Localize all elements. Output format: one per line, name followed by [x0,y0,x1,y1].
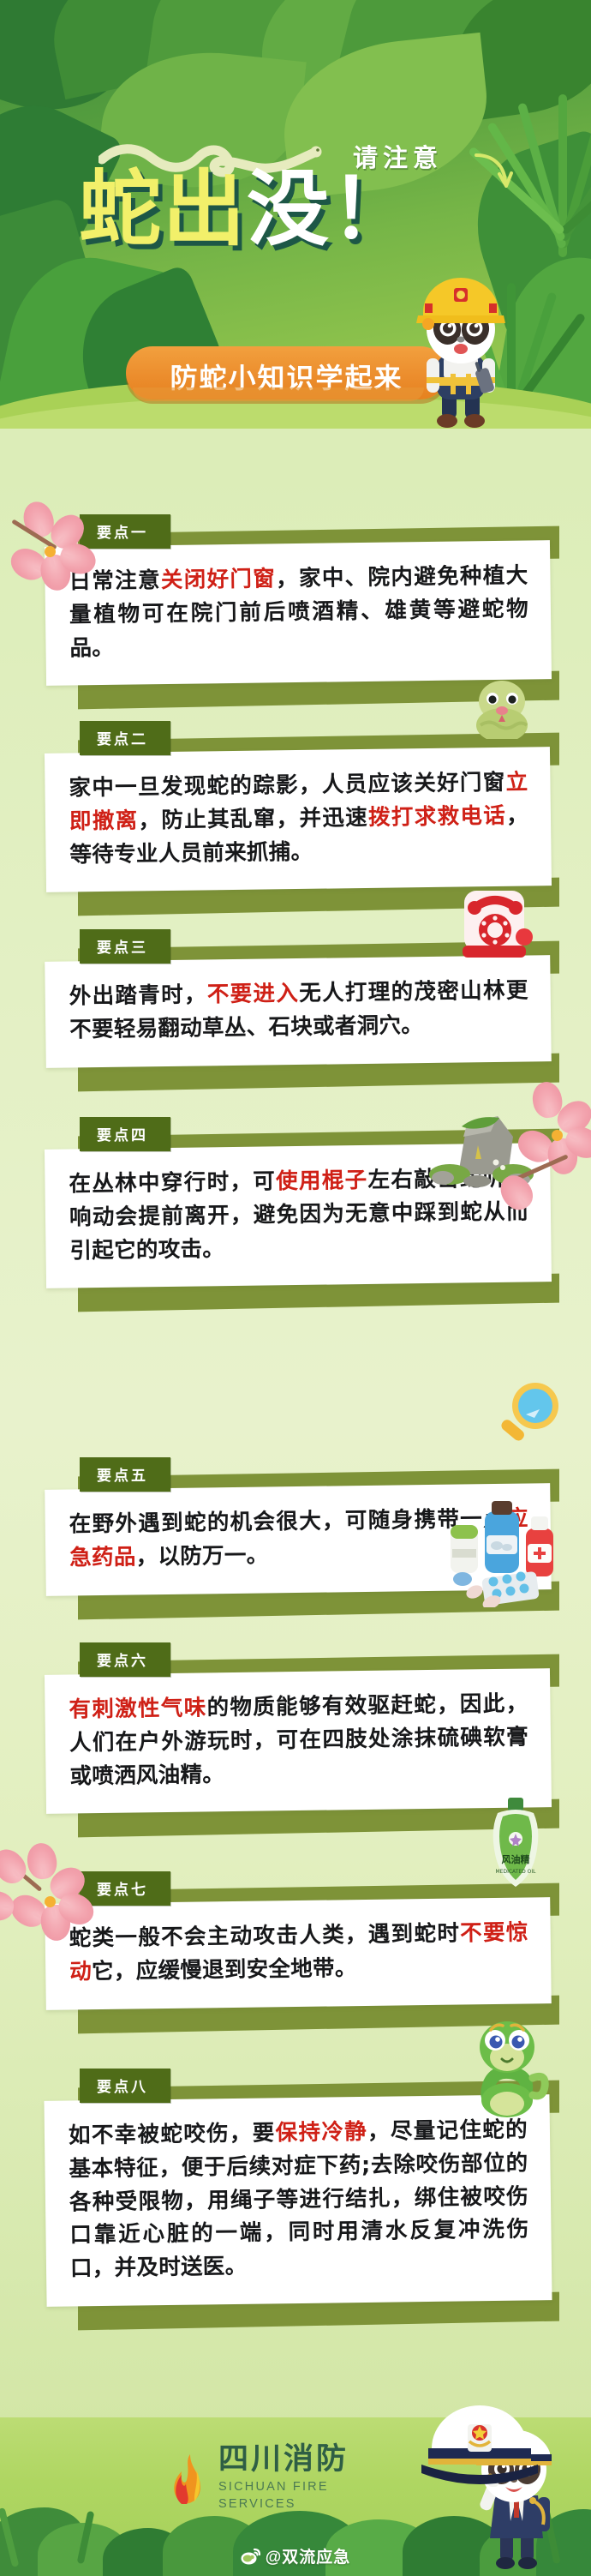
point-text-highlight: 保持冷静 [275,2119,367,2146]
magnifier-icon [495,1372,564,1453]
page-title: 蛇出没！ [79,168,415,250]
point-card: 要点六有刺激性气味的物质能够有效驱赶蛇，因此，人们在户外游玩时，可在四肢处涂抹硫… [45,1642,551,1810]
point-sheet: 在野外遇到蛇的机会很大，可随身携带一点应急药品，以防万一。 [45,1483,552,1595]
point-text-highlight: 关闭好门窗 [161,566,277,593]
point-text-plain: 它，应缓慢退到安全地带。 [92,1955,357,1985]
logo-english-line1: SICHUAN FIRE [218,2479,349,2496]
panda-firefighter-mascot [404,273,517,429]
point-sheet: 蛇类一般不会主动攻击人类，遇到蛇时不要惊动它，应缓慢退到安全地带。 [45,1897,552,2009]
sakura-blossom [507,1082,591,1223]
curved-arrow-icon [473,150,516,193]
point-sheet: 如不幸被蛇咬伤，要保持冷静，尽量记住蛇的基本特征，便于后续对症下药;去除咬伤部位… [44,2094,552,2306]
point-text-plain: ，防止其乱窜，并迅速 [138,805,368,834]
point-sheet: 家中一旦发现蛇的踪影，人员应该关好门窗立即撤离，防止其乱窜，并迅速拨打求救电话，… [45,747,552,892]
point-text-plain: 外出踏青时， [69,982,207,1009]
point-text: 在丛林中穿行时，可使用棍子左右敲击蛇听到响动会提前离开，避免因为无意中踩到蛇从而… [69,1162,528,1267]
point-card: 要点七蛇类一般不会主动攻击人类，遇到蛇时不要惊动它，应缓慢退到安全地带。 [45,1871,551,2007]
point-text-plain: ，以防万一。 [135,1542,268,1570]
point-badge: 要点四 [80,1117,170,1151]
point-text-highlight: 使用棍子 [276,1168,368,1194]
sichuan-fire-logo: 四川消防 SICHUAN FIRE SERVICES [168,2445,349,2513]
page-title-part2: 没！ [247,161,415,257]
poster-footer: 四川消防 SICHUAN FIRE SERVICES [0,2417,591,2576]
point-card: 要点三外出踏青时，不要进入无人打理的茂密山林更不要轻易翻动草丛、石块或者洞穴。 [45,929,551,1065]
point-sheet: 外出踏青时，不要进入无人打理的茂密山林更不要轻易翻动草丛、石块或者洞穴。 [45,955,552,1067]
point-badge: 要点八 [80,2069,170,2103]
weibo-icon [241,2548,261,2565]
point-card: 要点二家中一旦发现蛇的踪影，人员应该关好门窗立即撤离，防止其乱窜，并迅速拨打求救… [45,721,551,889]
point-text-highlight: 拨打求救电话 [368,803,506,831]
point-card: 要点四在丛林中穿行时，可使用棍子左右敲击蛇听到响动会提前离开，避免因为无意中踩到… [45,1117,551,1285]
point-text: 如不幸被蛇咬伤，要保持冷静，尽量记住蛇的基本特征，便于后续对症下药;去除咬伤部位… [69,2113,529,2285]
point-text-plain: 家中一旦发现蛇的踪影，人员应该关好门窗 [69,770,506,802]
point-text-highlight: 有刺激性气味 [69,1695,207,1722]
flame-logo-icon [168,2453,209,2506]
poster-header: 请注意 蛇出没！ 防蛇小知识学起来 [0,0,591,429]
logo-english-name: SICHUAN FIRE SERVICES [218,2479,349,2513]
point-sheet: 日常注意关闭好门窗，家中、院内避免种植大量植物可在院门前后喷酒精、雄黄等避蛇物品… [45,540,552,686]
subtitle-ribbon-tail [133,387,424,401]
sakura-blossom [0,1843,91,1989]
point-text: 外出踏青时，不要进入无人打理的茂密山林更不要轻易翻动草丛、石块或者洞穴。 [69,974,529,1047]
point-badge: 要点五 [80,1457,170,1492]
logo-chinese-name: 四川消防 [218,2445,349,2475]
point-badge: 要点三 [80,929,170,964]
palm-frond [514,94,591,283]
point-text: 在野外遇到蛇的机会很大，可随身携带一点应急药品，以防万一。 [69,1502,529,1575]
svg-text:风油精: 风油精 [502,1853,530,1865]
point-text: 蛇类一般不会主动攻击人类，遇到蛇时不要惊动它，应缓慢退到安全地带。 [69,1916,529,1989]
point-card: 要点一日常注意关闭好门窗，家中、院内避免种植大量植物可在院门前后喷酒精、雄黄等避… [45,514,551,682]
point-sheet: 在丛林中穿行时，可使用棍子左右敲击蛇听到响动会提前离开，避免因为无意中踩到蛇从而… [45,1143,552,1288]
point-text-plain: 如不幸被蛇咬伤，要 [69,2120,276,2148]
point-text-plain: 在野外遇到蛇的机会很大，可随身携带一点 [69,1506,507,1538]
point-card: 要点五在野外遇到蛇的机会很大，可随身携带一点应急药品，以防万一。 [45,1457,551,1593]
point-badge: 要点七 [80,1871,170,1906]
point-card: 要点八如不幸被蛇咬伤，要保持冷静，尽量记住蛇的基本特征，便于后续对症下药;去除咬… [45,2069,551,2303]
point-text-highlight: 不要进入 [207,981,300,1007]
point-badge: 要点二 [80,721,170,755]
point-text-plain: 蛇类一般不会主动攻击人类，遇到蛇时 [69,1921,461,1952]
logo-english-line2: SERVICES [218,2496,349,2513]
weibo-handle: @双流应急 [266,2549,351,2567]
infographic-poster: 请注意 蛇出没！ 防蛇小知识学起来 [0,0,591,2576]
point-text: 有刺激性气味的物质能够有效驱赶蛇，因此，人们在户外游玩时，可在四肢处涂抹硫碘软膏… [69,1687,528,1792]
point-text: 日常注意关闭好门窗，家中、院内避免种植大量植物可在院门前后喷酒精、雄黄等避蛇物品… [69,559,528,664]
weibo-credit: @双流应急 [0,2544,591,2567]
point-sheet: 有刺激性气味的物质能够有效驱赶蛇，因此，人们在户外游玩时，可在四肢处涂抹硫碘软膏… [45,1668,552,1814]
point-badge: 要点六 [80,1642,170,1677]
sakura-blossom [7,501,101,630]
point-text: 家中一旦发现蛇的踪影，人员应该关好门窗立即撤离，防止其乱窜，并迅速拨打求救电话，… [69,766,528,871]
point-text-plain: 在丛林中穿行时，可 [69,1168,276,1197]
page-title-part1: 蛇出 [79,161,247,257]
